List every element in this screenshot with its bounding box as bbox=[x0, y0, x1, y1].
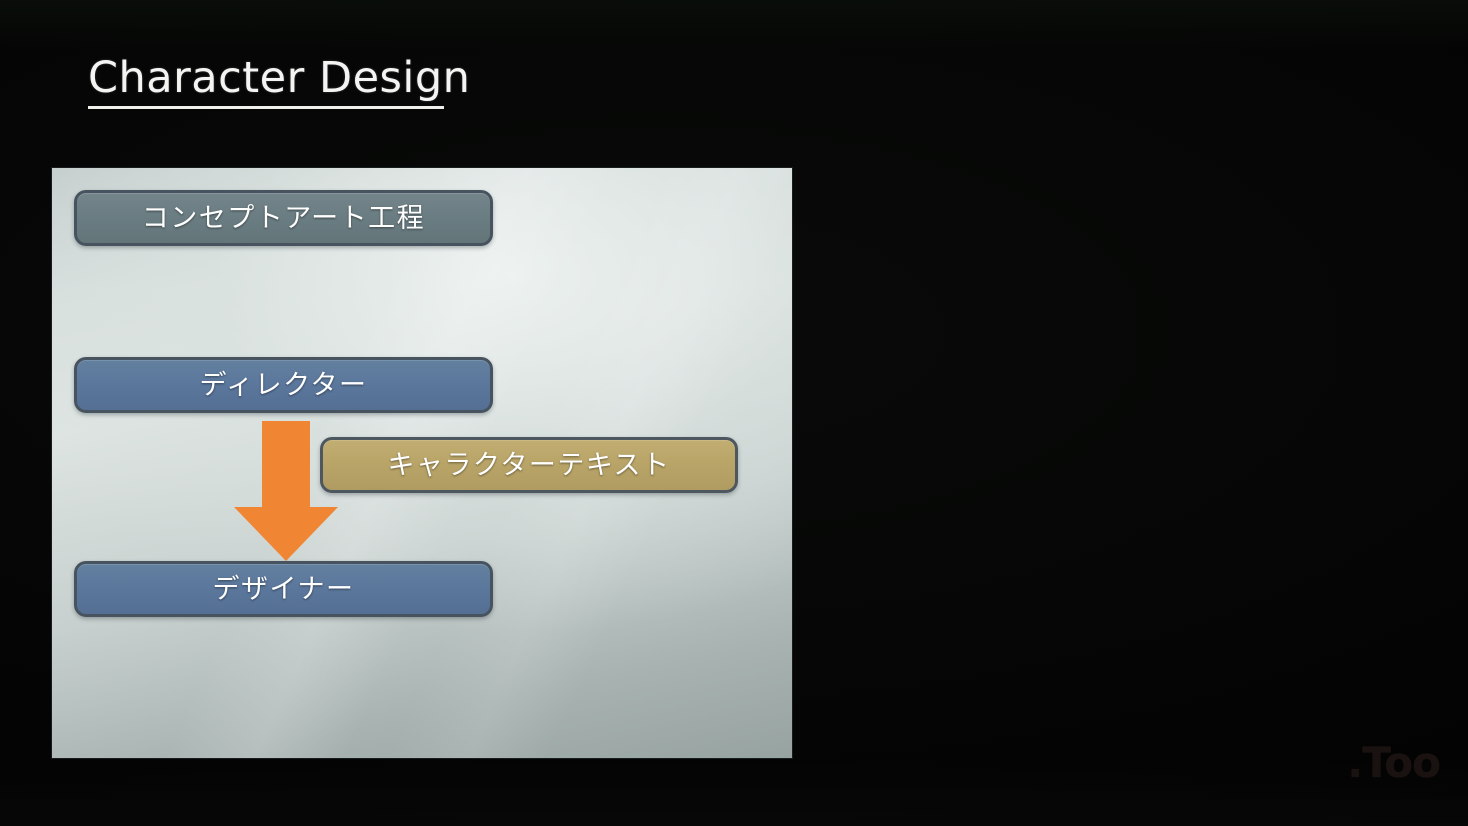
diagram-panel: コンセプトアート工程 ディレクター キャラクターテキスト デザイナー bbox=[52, 168, 792, 758]
too-logo: .Too bbox=[1347, 742, 1440, 784]
diagram-node-label: キャラクターテキスト bbox=[387, 452, 670, 479]
diagram-node-character-text[interactable]: キャラクターテキスト bbox=[320, 437, 738, 493]
diagram-node-concept-art-process[interactable]: コンセプトアート工程 bbox=[74, 190, 493, 246]
diagram-node-designer[interactable]: デザイナー bbox=[74, 561, 493, 617]
diagram-node-label: コンセプトアート工程 bbox=[142, 205, 425, 232]
diagram-node-director[interactable]: ディレクター bbox=[74, 357, 493, 413]
diagram-node-label: デザイナー bbox=[213, 576, 355, 603]
presentation-slide: Character Design コンセプトアート工程 ディレクター キャラクタ… bbox=[0, 0, 1468, 826]
slide-title-block: Character Design bbox=[88, 52, 470, 109]
title-underline bbox=[88, 106, 444, 109]
page-title: Character Design bbox=[88, 52, 470, 104]
diagram-node-label: ディレクター bbox=[199, 372, 367, 399]
